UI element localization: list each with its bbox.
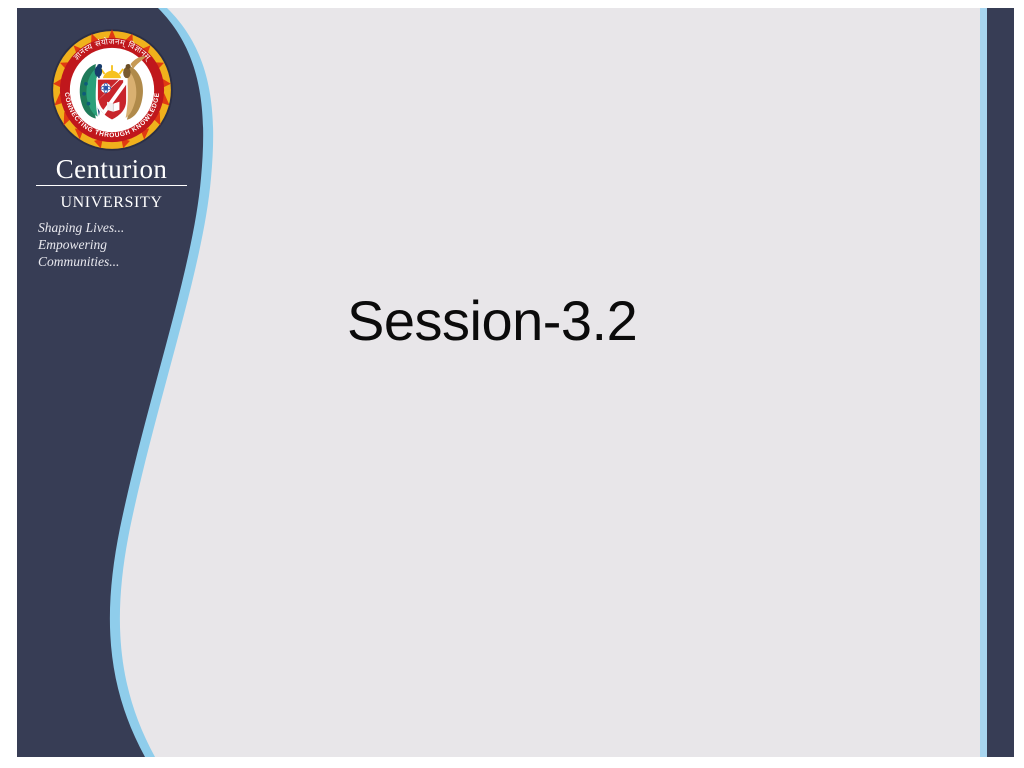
slide-canvas: ज्ञानस्य संयोजनम् विज्ञानम् CONNECTING T… [17,8,1014,757]
university-logo: ज्ञानस्य संयोजनम् विज्ञानम् CONNECTING T… [34,28,189,271]
centurion-university-emblem-icon: ज्ञानस्य संयोजनम् विज्ञानम् CONNECTING T… [50,28,174,152]
slide-title: Session-3.2 [347,290,907,352]
accent-stripe-right [980,8,987,757]
tagline-line-1: Shaping Lives... [34,220,189,237]
university-wordmark: Centurion University [34,156,189,211]
wordmark-university: University [34,188,189,211]
navy-band-right [987,8,1014,757]
tagline-line-2: Empowering Communities... [34,237,189,271]
wordmark-centurion: Centurion [36,156,187,186]
